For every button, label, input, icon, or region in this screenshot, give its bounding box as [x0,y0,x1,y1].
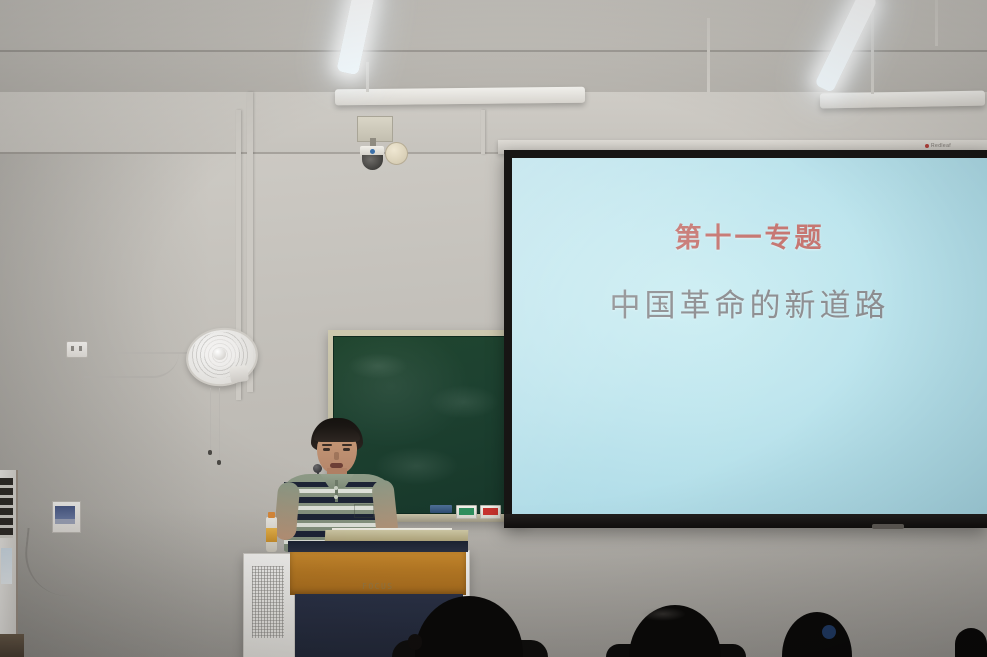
shirt-button [334,486,338,490]
notice-board-panel [1,548,12,584]
projector-screen-bottom-bar [504,514,987,528]
speaker-left [243,553,295,657]
brand-text: Redleaf [931,143,951,149]
lecturer-eyebrow [342,444,352,446]
projector-screen-brand-label: Redleaf [925,143,951,149]
slide-title: 第十一专题 [675,216,825,255]
light-stem [935,0,938,46]
lecturer-eyebrow [322,444,332,446]
light-stem [707,18,710,94]
chalk-box-red[interactable] [480,505,501,519]
fluorescent-fixture-left [335,87,585,106]
camera-led-icon [370,149,375,154]
lecturer-hair-front [314,426,360,442]
student-ear [408,634,422,650]
chalk-smudge [429,385,499,419]
fan-mount-bracket [229,365,249,383]
student-head [955,628,987,657]
wall-fan[interactable] [186,322,260,392]
lecturer-eye [343,448,350,451]
bottle-label [266,528,277,542]
student-hair-highlight [640,607,686,621]
student-hair-tie [822,625,836,639]
ceiling-speaker-icon [385,142,408,165]
podium-logo: FOCUS [362,582,394,591]
chalk-box-green[interactable] [456,505,477,519]
projector-screen-surface: 第十一专题 中国革命的新道路 [512,158,987,518]
wall-conduit-pipe [481,110,485,154]
bottle-cap [268,512,275,518]
shirt-button [334,495,338,499]
fan-power-wire [100,352,188,372]
fluorescent-fixture-right [820,91,985,109]
podium-top-edge [288,541,468,552]
notice-board-notices [0,478,13,538]
fan-cord-weight [217,460,221,465]
light-stem [366,62,369,92]
fan-cord-weight [208,450,212,455]
fan-pull-cord[interactable] [219,388,220,461]
front-desk-edge [0,634,24,657]
chalk-smudge [348,353,408,379]
shirt-pocket [354,504,374,518]
chalk-tray[interactable] [430,505,452,513]
outlet-slot [71,346,74,351]
slide-subtitle: 中国革命的新道路 [610,280,890,325]
electrical-box-terminal-strip [55,519,75,524]
outlet-slot [79,346,82,351]
classroom-photo-scene: Redleaf 第十一专题 中国革命的新道路 [0,0,987,657]
light-stem [871,10,874,94]
fan-hub [213,348,226,360]
shirt-stripe [284,523,390,527]
speaker-grill [252,566,284,638]
lecturer-eye [323,448,330,451]
fan-pull-cord[interactable] [210,388,211,451]
lecturer-nose [334,452,339,460]
brand-dot-icon [925,144,929,148]
projector-screen-pull-tab[interactable] [872,524,904,529]
slide: 第十一专题 中国革命的新道路 [512,158,987,518]
